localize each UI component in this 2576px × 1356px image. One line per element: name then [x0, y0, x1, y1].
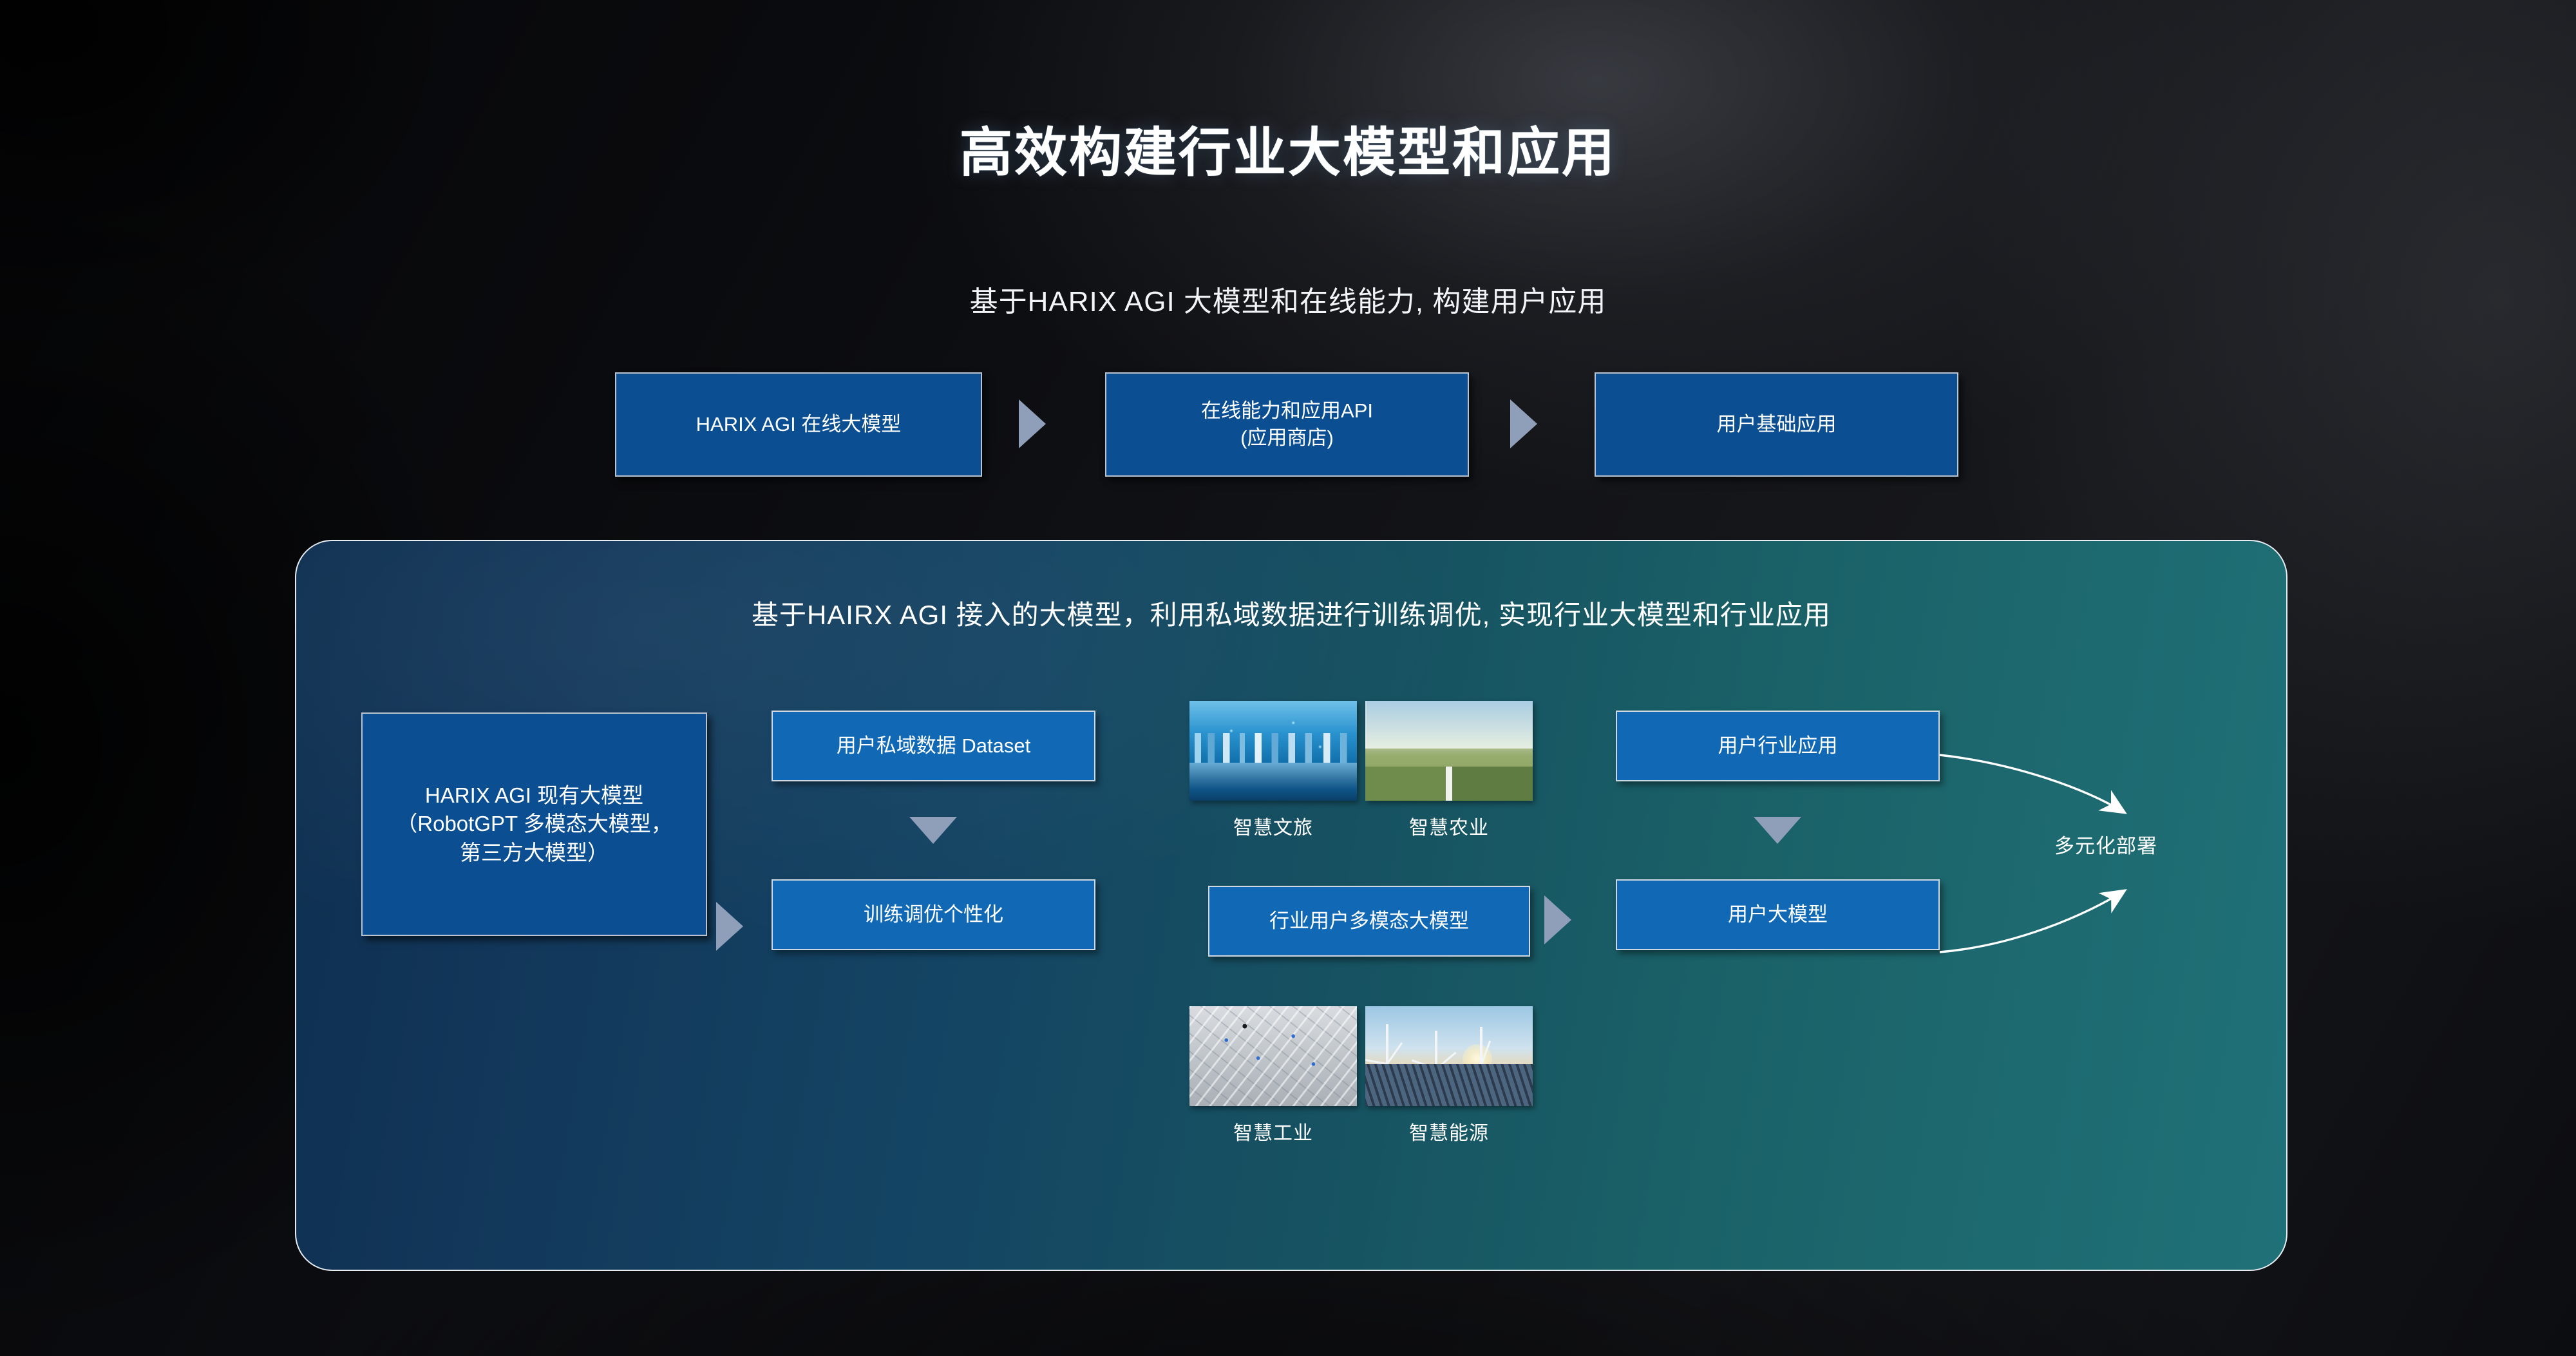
page-subtitle: 基于HARIX AGI 大模型和在线能力, 构建用户应用	[0, 278, 2576, 320]
thumbnail-smart-tourism[interactable]	[1189, 701, 1357, 801]
triangle-right-icon	[1019, 399, 1046, 448]
thumbnail-caption-smart-agriculture: 智慧农业	[1365, 812, 1533, 840]
industrial-factory-floor-icon	[1189, 1006, 1357, 1106]
existing-model-line1: HARIX AGI 现有大模型	[425, 783, 643, 807]
existing-model-line2: （RobotGPT 多模态大模型，	[396, 812, 672, 836]
triangle-right-icon	[716, 902, 743, 951]
top-flow-box-2-label-line2: (应用商店)	[1240, 426, 1334, 449]
triangle-down-icon	[1754, 817, 1801, 844]
user-model-box[interactable]: 用户大模型	[1616, 879, 1940, 950]
greenhouse-robot-farming-icon	[1365, 701, 1533, 801]
industry-model-box[interactable]: 行业用户多模态大模型	[1208, 886, 1530, 957]
smart-city-night-skyline-icon	[1189, 701, 1357, 801]
top-flow-box-2-label-line1: 在线能力和应用API	[1201, 399, 1373, 422]
industry-model-box-label: 行业用户多模态大模型	[1269, 908, 1469, 935]
turbine-blade-icon	[1365, 1058, 1387, 1065]
dataset-box[interactable]: 用户私域数据 Dataset	[772, 711, 1095, 781]
user-model-label: 用户大模型	[1728, 901, 1828, 928]
triangle-right-icon	[1544, 895, 1571, 944]
existing-model-box[interactable]: HARIX AGI 现有大模型 （RobotGPT 多模态大模型， 第三方大模型…	[361, 712, 707, 936]
thumbnail-smart-agriculture[interactable]	[1365, 701, 1533, 801]
existing-model-box-label-wrap: HARIX AGI 现有大模型 （RobotGPT 多模态大模型， 第三方大模型…	[396, 781, 672, 868]
turbine-blade-icon	[1387, 1064, 1399, 1088]
turbine-blade-icon	[1455, 1064, 1481, 1071]
turbine-blade-icon	[1412, 1059, 1437, 1069]
thumbnail-caption-smart-industry: 智慧工业	[1189, 1117, 1357, 1145]
top-flow-box-2[interactable]: 在线能力和应用API (应用商店)	[1105, 372, 1469, 477]
turbine-mast-icon	[1435, 1031, 1437, 1064]
top-flow-box-3-label: 用户基础应用	[1717, 411, 1837, 438]
deploy-label: 多元化部署	[2054, 830, 2157, 859]
wind-turbines-solar-panels-icon	[1365, 1006, 1533, 1106]
thumbnail-caption-smart-energy: 智慧能源	[1365, 1117, 1533, 1145]
triangle-down-icon	[909, 817, 957, 844]
thumbnail-caption-smart-tourism: 智慧文旅	[1189, 812, 1357, 840]
top-flow-box-1[interactable]: HARIX AGI 在线大模型	[615, 372, 982, 477]
turbine-blade-icon	[1435, 1052, 1457, 1070]
thumbnail-smart-energy[interactable]	[1365, 1006, 1533, 1106]
turbine-blade-icon	[1387, 1042, 1403, 1064]
dataset-box-label: 用户私域数据 Dataset	[837, 732, 1030, 759]
turbine-mast-icon	[1386, 1024, 1388, 1064]
training-box[interactable]: 训练调优个性化	[772, 879, 1095, 950]
top-flow-box-3[interactable]: 用户基础应用	[1595, 372, 1958, 477]
user-industry-app-box[interactable]: 用户行业应用	[1616, 711, 1940, 781]
page-title: 高效构建行业大模型和应用	[0, 110, 2576, 186]
existing-model-line3: 第三方大模型）	[460, 841, 609, 864]
panel-heading: 基于HAIRX AGI 接入的大模型，利用私域数据进行训练调优, 实现行业大模型…	[296, 593, 2286, 633]
triangle-right-icon	[1510, 399, 1537, 448]
user-industry-app-label: 用户行业应用	[1718, 732, 1838, 759]
top-flow-box-2-label-wrap: 在线能力和应用API (应用商店)	[1201, 397, 1373, 452]
thumbnail-smart-industry[interactable]	[1189, 1006, 1357, 1106]
training-box-label: 训练调优个性化	[864, 901, 1003, 928]
top-flow-box-1-label: HARIX AGI 在线大模型	[696, 411, 902, 438]
